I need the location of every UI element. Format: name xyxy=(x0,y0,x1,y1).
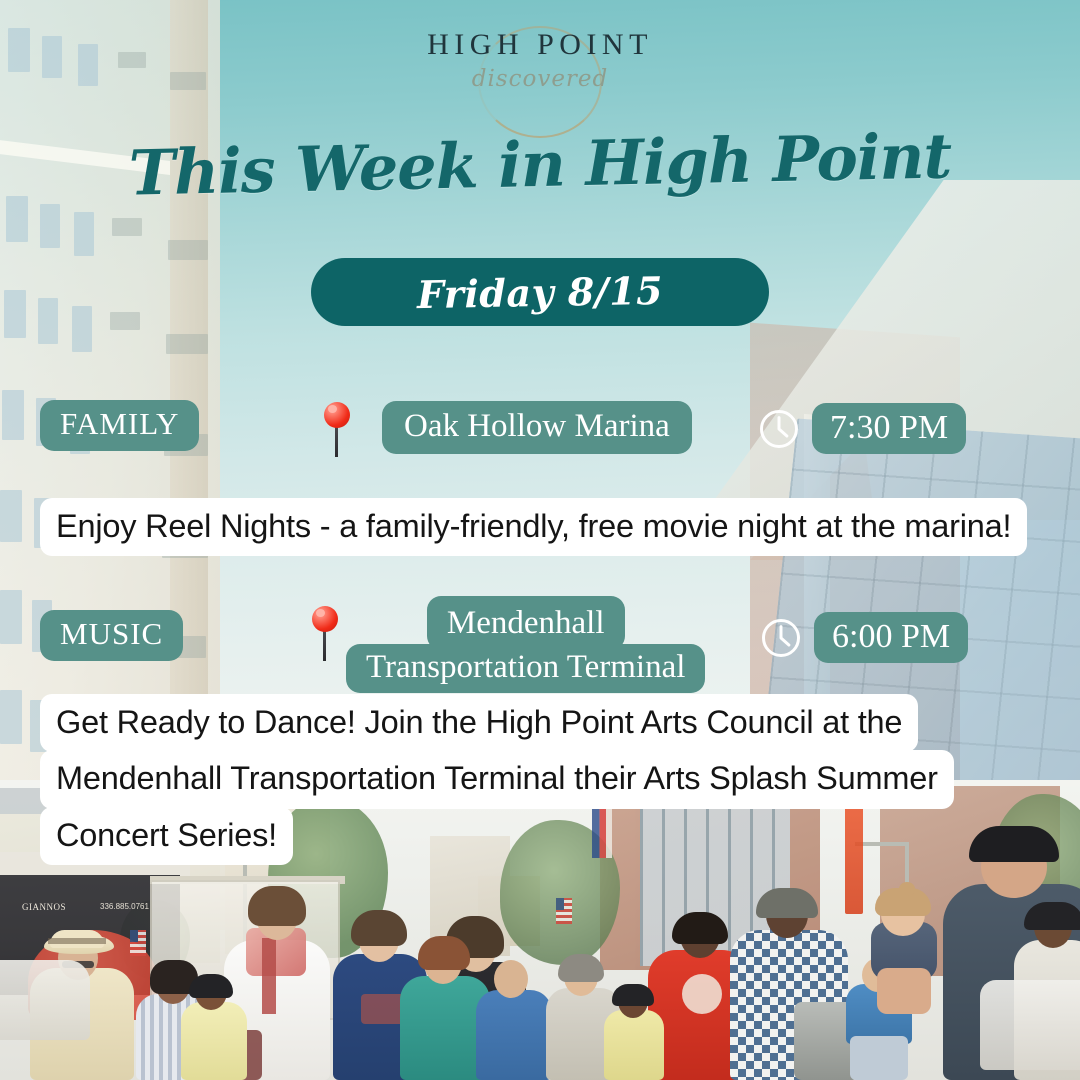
time-group-family: 7:30 PM xyxy=(758,403,966,454)
description-line: Concert Series! xyxy=(40,807,293,865)
location-line-1: Mendenhall xyxy=(427,596,625,650)
social-post-canvas: GIANNOS 336.885.0761 xyxy=(0,0,1080,1080)
logo-primary-text: HIGH POINT xyxy=(0,30,1080,60)
map-pin-icon xyxy=(308,606,342,662)
description-line: Mendenhall Transportation Terminal their… xyxy=(40,750,954,808)
time-badge-music[interactable]: 6:00 PM xyxy=(814,612,968,663)
location-badge-oak-hollow-marina[interactable]: Oak Hollow Marina xyxy=(382,401,692,454)
description-line: Get Ready to Dance! Join the High Point … xyxy=(40,694,918,752)
event-row-music: MUSIC Mendenhall Transportation Terminal xyxy=(0,596,1080,662)
clock-icon xyxy=(758,408,800,450)
logo-secondary-text: discovered xyxy=(0,66,1080,92)
description-line: Enjoy Reel Nights - a family-friendly, f… xyxy=(40,498,1027,556)
time-group-music: 6:00 PM xyxy=(760,612,968,663)
brand-logo: HIGH POINT discovered xyxy=(0,30,1080,92)
date-pill-label: Friday 8/15 xyxy=(417,267,664,316)
event-row-family: FAMILY Oak Hollow Marina 7:30 PM xyxy=(0,400,1080,466)
clock-icon xyxy=(760,617,802,659)
location-badge-mendenhall-transportation-terminal[interactable]: Mendenhall Transportation Terminal xyxy=(346,596,705,693)
category-badge-music[interactable]: MUSIC xyxy=(40,610,183,661)
event-description-family: Enjoy Reel Nights - a family-friendly, f… xyxy=(40,498,1027,554)
page-title: This Week in High Point xyxy=(0,117,1080,213)
post-content: HIGH POINT discovered This Week in High … xyxy=(0,0,1080,1080)
event-description-music: Get Ready to Dance! Join the High Point … xyxy=(40,694,954,863)
time-badge-family[interactable]: 7:30 PM xyxy=(812,403,966,454)
location-line-2: Transportation Terminal xyxy=(346,644,705,694)
date-pill: Friday 8/15 xyxy=(311,258,769,326)
map-pin-icon xyxy=(320,402,354,458)
category-badge-family[interactable]: FAMILY xyxy=(40,400,199,451)
